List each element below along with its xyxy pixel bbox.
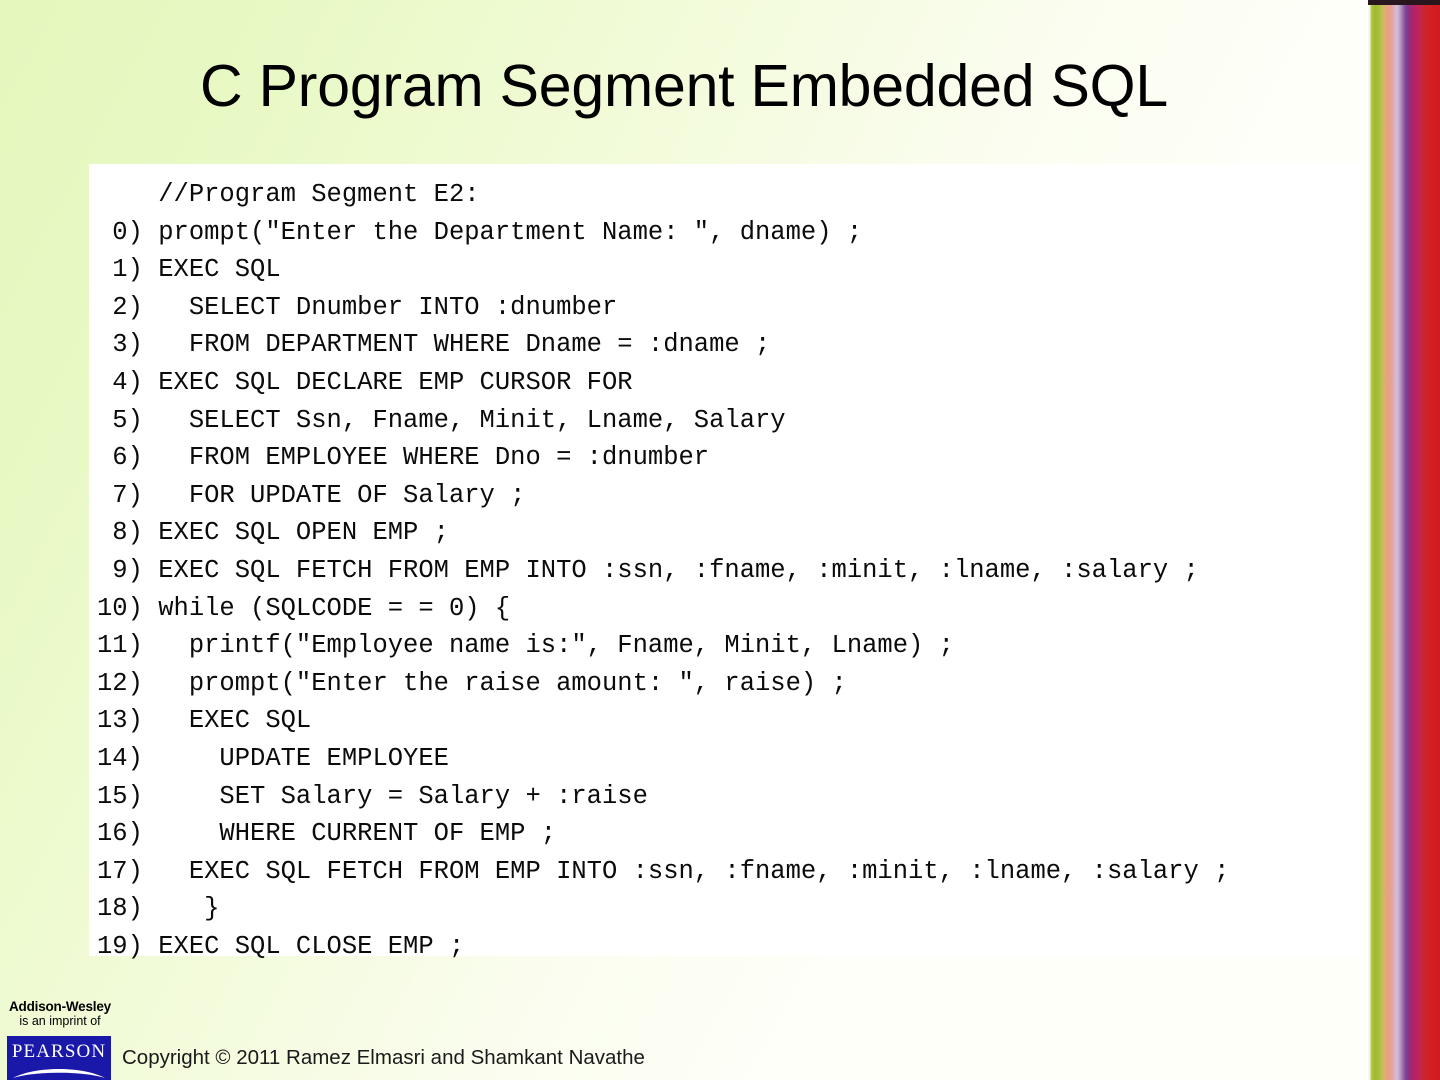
code-line: 2) SELECT Dnumber INTO :dnumber [97,289,1361,327]
code-line: 12) prompt("Enter the raise amount: ", r… [97,665,1361,703]
code-line: 4) EXEC SQL DECLARE EMP CURSOR FOR [97,364,1361,402]
stripe-top-cap [1368,0,1440,5]
code-line: 14) UPDATE EMPLOYEE [97,740,1361,778]
code-panel: //Program Segment E2: 0) prompt("Enter t… [89,164,1361,956]
code-line: //Program Segment E2: [97,176,1361,214]
code-line: 19) EXEC SQL CLOSE EMP ; [97,928,1361,966]
code-line: 11) printf("Employee name is:", Fname, M… [97,627,1361,665]
code-line: 10) while (SQLCODE = = 0) { [97,590,1361,628]
code-line: 1) EXEC SQL [97,251,1361,289]
code-listing: //Program Segment E2: 0) prompt("Enter t… [89,172,1361,965]
code-line: 7) FOR UPDATE OF Salary ; [97,477,1361,515]
code-line: 0) prompt("Enter the Department Name: ",… [97,214,1361,252]
code-line: 16) WHERE CURRENT OF EMP ; [97,815,1361,853]
code-line: 6) FROM EMPLOYEE WHERE Dno = :dnumber [97,439,1361,477]
code-line: 17) EXEC SQL FETCH FROM EMP INTO :ssn, :… [97,853,1361,891]
pearson-logo-wordmark: PEARSON [7,1041,111,1063]
code-line: 9) EXEC SQL FETCH FROM EMP INTO :ssn, :f… [97,552,1361,590]
imprint-publisher-name: Addison-Wesley [8,999,112,1014]
imprint-subtitle: is an imprint of [8,1014,112,1028]
slide-canvas: C Program Segment Embedded SQL //Program… [0,0,1440,1080]
code-line: 5) SELECT Ssn, Fname, Minit, Lname, Sala… [97,402,1361,440]
stripe-texture-overlay [1368,0,1440,1080]
code-line: 13) EXEC SQL [97,702,1361,740]
code-line: 15) SET Salary = Salary + :raise [97,778,1361,816]
code-line: 18) } [97,890,1361,928]
copyright-notice: Copyright © 2011 Ramez Elmasri and Shamk… [122,1046,645,1070]
pearson-logo: PEARSON [7,1036,111,1080]
code-line: 8) EXEC SQL OPEN EMP ; [97,514,1361,552]
decorative-edge-stripe [1368,0,1440,1080]
imprint-text: Addison-Wesley is an imprint of [8,999,112,1028]
page-title: C Program Segment Embedded SQL [0,52,1368,120]
pearson-swoosh-icon [13,1064,105,1080]
code-line: 3) FROM DEPARTMENT WHERE Dname = :dname … [97,326,1361,364]
